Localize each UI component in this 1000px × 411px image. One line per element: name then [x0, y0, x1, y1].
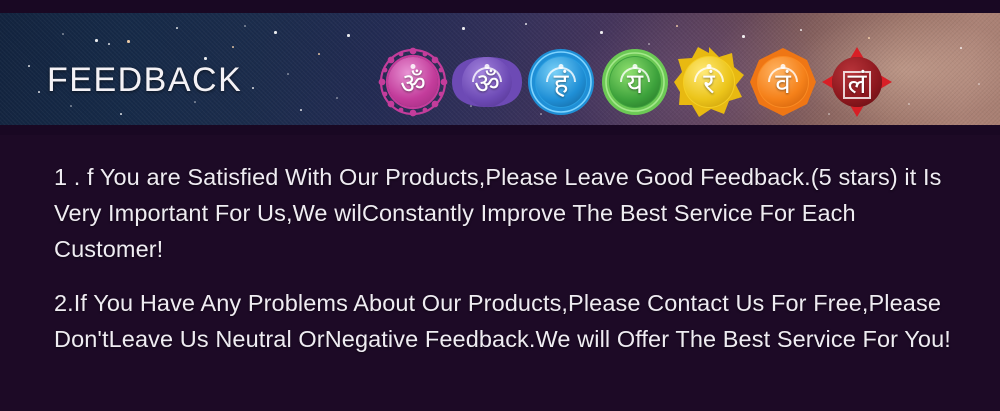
page-title: FEEDBACK: [47, 61, 242, 100]
solar-plexus-chakra-glyph: रं: [703, 70, 714, 98]
third-eye-chakra-glyph: ॐ: [474, 70, 500, 98]
chakra-sacral: वं: [746, 41, 820, 125]
header-banner: FEEDBACK: [0, 0, 1000, 135]
third-eye-chakra-disc: ॐ: [462, 57, 512, 107]
feedback-banner-page: FEEDBACK: [0, 0, 1000, 411]
sacral-chakra-disc: वं: [758, 57, 808, 107]
sacral-chakra-glyph: वं: [775, 70, 791, 98]
feedback-paragraph-2: 2.If You Have Any Problems About Our Pro…: [54, 285, 954, 357]
chakra-heart: यं: [598, 41, 672, 125]
chakra-third-eye: ॐ: [450, 41, 524, 125]
chakra-symbol-row: ॐ ॐ: [376, 41, 976, 125]
root-chakra-glyph: लं: [848, 70, 867, 98]
throat-chakra-glyph: हं: [554, 70, 569, 98]
chakra-throat: हं: [524, 41, 598, 125]
crown-chakra-disc: ॐ: [388, 57, 438, 107]
crown-chakra-glyph: ॐ: [400, 70, 426, 98]
banner-artwork: FEEDBACK: [0, 13, 1000, 125]
solar-plexus-chakra-disc: रं: [684, 57, 734, 107]
feedback-paragraph-1: 1 . f You are Satisfied With Our Product…: [54, 159, 954, 267]
heart-chakra-disc: यं: [610, 57, 660, 107]
chakra-root: लं: [820, 41, 894, 125]
heart-chakra-glyph: यं: [627, 70, 643, 98]
chakra-solar-plexus: रं: [672, 41, 746, 125]
feedback-text-section: 1 . f You are Satisfied With Our Product…: [0, 135, 1000, 411]
root-chakra-disc: लं: [832, 57, 882, 107]
throat-chakra-disc: हं: [536, 57, 586, 107]
chakra-crown: ॐ: [376, 41, 450, 125]
